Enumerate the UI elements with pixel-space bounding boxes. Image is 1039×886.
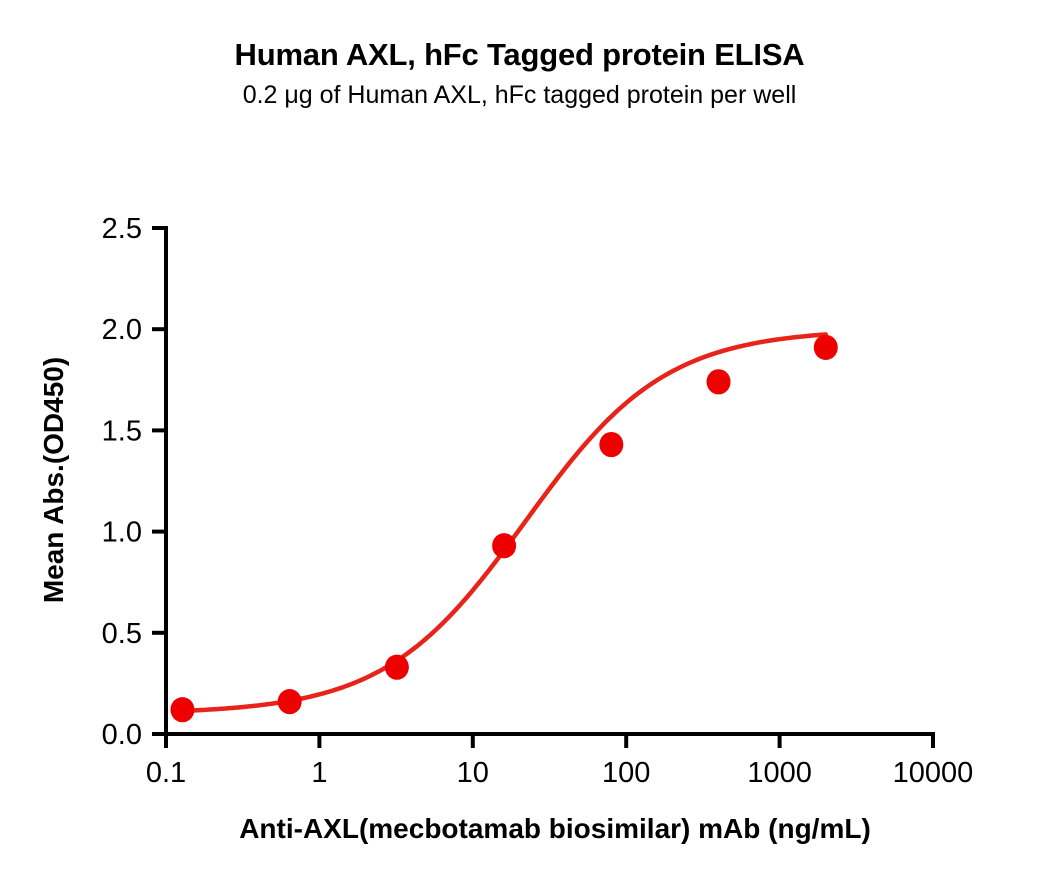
y-axis-tick-labels: 0.00.51.01.52.02.5 xyxy=(102,213,142,751)
data-point-marker xyxy=(814,335,838,360)
data-point-marker xyxy=(707,369,731,394)
fit-curve-path xyxy=(182,334,825,710)
y-axis-title: Mean Abs.(OD450) xyxy=(38,357,69,603)
y-tick-label: 0.0 xyxy=(102,719,142,751)
data-points xyxy=(170,335,837,722)
y-tick-label: 2.0 xyxy=(102,314,142,346)
x-tick-label: 100 xyxy=(602,757,650,789)
plot-area: 0.1110100100010000 0.00.51.01.52.02.5 An… xyxy=(0,0,1039,886)
x-tick-label: 1000 xyxy=(747,757,812,789)
elisa-chart-figure: Human AXL, hFc Tagged protein ELISA 0.2 … xyxy=(0,0,1039,886)
data-point-marker xyxy=(170,697,194,722)
axis-frame xyxy=(166,228,933,734)
y-axis-ticks xyxy=(152,228,166,734)
data-point-marker xyxy=(599,432,623,457)
y-tick-label: 1.0 xyxy=(102,517,142,549)
x-tick-label: 1 xyxy=(311,757,327,789)
x-tick-label: 10 xyxy=(457,757,489,789)
x-axis-ticks xyxy=(166,734,933,748)
y-tick-label: 1.5 xyxy=(102,415,142,447)
fit-curve xyxy=(182,334,825,710)
x-axis-title: Anti-AXL(mecbotamab biosimilar) mAb (ng/… xyxy=(239,813,871,844)
y-tick-label: 2.5 xyxy=(102,213,142,245)
data-point-marker xyxy=(492,533,516,558)
x-tick-label: 0.1 xyxy=(146,757,186,789)
data-point-marker xyxy=(385,655,409,680)
data-point-marker xyxy=(278,689,302,714)
x-axis-tick-labels: 0.1110100100010000 xyxy=(146,757,973,789)
x-tick-label: 10000 xyxy=(893,757,974,789)
y-tick-label: 0.5 xyxy=(102,618,142,650)
